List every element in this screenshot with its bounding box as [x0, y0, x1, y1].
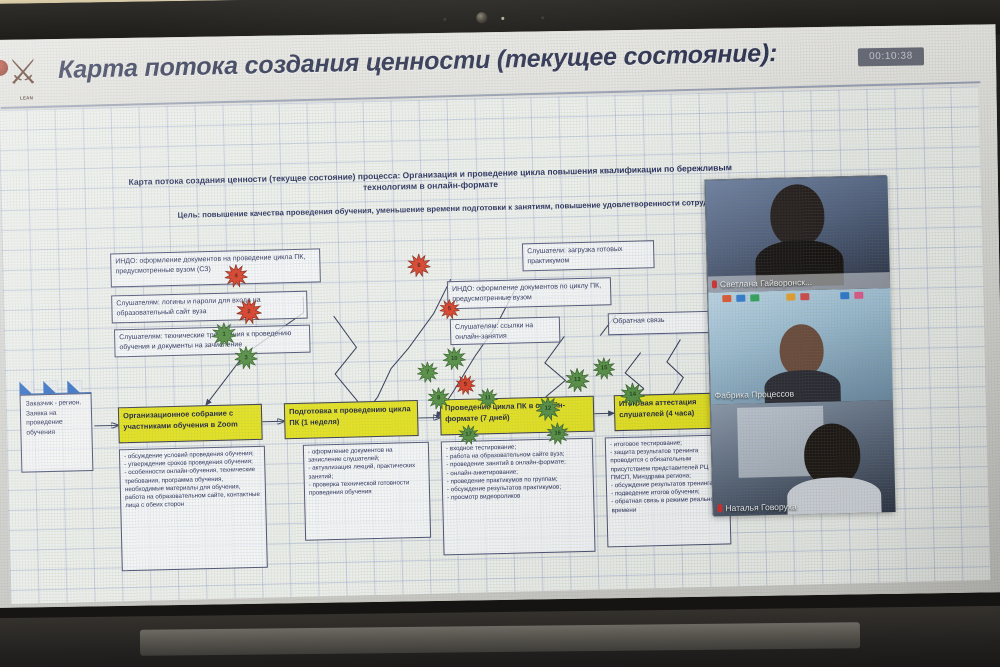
kaizen-burst: 9 [455, 375, 475, 395]
kaizen-burst-number: 2 [236, 299, 262, 325]
kaizen-burst: 1 [212, 322, 237, 347]
vsm-detail-step-3: - входное тестирование; - работа на обра… [441, 438, 596, 556]
kaizen-burst: 14 [620, 382, 645, 407]
kaizen-burst-number: 4 [224, 264, 248, 288]
vsm-info-box-logins: Слушателям: логины и пароли для входа на… [111, 291, 308, 324]
webcam-icon [476, 12, 487, 23]
vsm-info-box-indo-2: ИНДО: оформление документов по циклу ПК,… [447, 277, 612, 309]
kaizen-burst-number: 17 [458, 425, 478, 445]
participant-name-3: Наталья Говоруха [717, 501, 796, 513]
kaizen-burst: 17 [458, 425, 478, 445]
mic-muted-icon [717, 504, 722, 512]
laptop-screen[interactable]: ⚔ LEAN Карта потока создания ценности (т… [0, 24, 1000, 608]
video-tile-participant-2[interactable]: Фабрика Процессов [708, 288, 893, 404]
presentation-slide[interactable]: ⚔ LEAN Карта потока создания ценности (т… [0, 24, 1000, 608]
video-call-panel[interactable]: Светлана Гайворонск... Фабрика Процессов [704, 175, 894, 515]
kaizen-burst-number: 7 [417, 361, 439, 383]
kaizen-burst-number: 9 [455, 375, 475, 395]
logo-emblem-icon: ⚔ [0, 51, 46, 94]
avatar-body [764, 369, 841, 404]
video-tile-participant-3[interactable]: Наталья Говоруха [711, 400, 896, 516]
kaizen-burst: 5 [439, 299, 459, 319]
vsm-source-box: Заказчик - регион. Заявка на проведение … [20, 393, 94, 473]
laptop-lid: ⚔ LEAN Карта потока создания ценности (т… [0, 0, 1000, 644]
kaizen-burst: 11 [478, 388, 498, 408]
page-title: Карта потока создания ценности (текущее … [58, 37, 848, 85]
kaizen-burst: 8 [427, 387, 450, 410]
kaizen-burst-number: 13 [565, 368, 590, 393]
room-background: 🐦 РУССК RUSSI ДЕКАБРЬ 123456789101112131… [0, 0, 1000, 667]
vsm-process-step-1[interactable]: Организационное собрание с участниками о… [118, 404, 263, 444]
kaizen-burst-number: 1 [212, 322, 237, 347]
bezel-sensor-dot [443, 18, 446, 21]
vsm-info-box-praktikum: Слушатели: загрузка готовых практикумом [522, 240, 655, 271]
vsm-detail-step-1: - обсуждение условий проведения обучения… [119, 446, 268, 572]
bezel-led [501, 17, 504, 20]
kaizen-burst: 13 [565, 368, 590, 393]
kaizen-burst: 7 [417, 361, 439, 383]
participant-name-2: Фабрика Процессов [715, 388, 795, 400]
kaizen-burst: 3 [234, 346, 258, 370]
kaizen-burst: 10 [442, 347, 466, 371]
kaizen-burst-number: 15 [593, 357, 616, 380]
bezel-sensor-dot [541, 16, 544, 19]
vsm-info-box-indo-1: ИНДО: оформление документов на проведени… [110, 248, 321, 287]
kaizen-burst: 4 [224, 264, 248, 288]
vsm-process-step-2[interactable]: Подготовка к проведению цикла ПК (1 неде… [284, 400, 419, 439]
kaizen-burst-number: 11 [478, 388, 498, 408]
kaizen-burst-number: 16 [546, 422, 569, 445]
meeting-timer-badge: 00:10:38 [858, 47, 924, 66]
vsm-info-box-feedback: Обратная связь [608, 311, 721, 336]
kaizen-burst: 12 [536, 397, 561, 422]
logo-label: LEAN [4, 95, 48, 101]
kaizen-burst: 2 [236, 299, 262, 325]
mic-muted-icon [712, 280, 717, 288]
organization-logo: ⚔ LEAN [0, 47, 51, 110]
kaizen-burst-number: 3 [234, 346, 258, 370]
kaizen-burst-number: 5 [439, 299, 459, 319]
avatar [779, 324, 824, 377]
kaizen-burst: 6 [407, 254, 431, 278]
kaizen-burst: 16 [546, 422, 569, 445]
vsm-detail-step-2: - оформление документов на зачисление сл… [303, 442, 431, 541]
vsm-info-box-links: Слушателям: ссылки на онлайн-занятия [450, 317, 561, 346]
kaizen-burst-number: 14 [620, 382, 645, 407]
kaizen-burst-number: 12 [536, 397, 561, 422]
kaizen-burst-number: 6 [407, 254, 431, 278]
kaizen-burst-number: 10 [442, 347, 466, 371]
kaizen-burst: 15 [593, 357, 616, 380]
kaizen-burst-number: 8 [427, 387, 450, 410]
avatar-body [787, 476, 882, 516]
avatar [770, 184, 825, 247]
video-tile-participant-1[interactable]: Светлана Гайворонск... [705, 176, 890, 292]
